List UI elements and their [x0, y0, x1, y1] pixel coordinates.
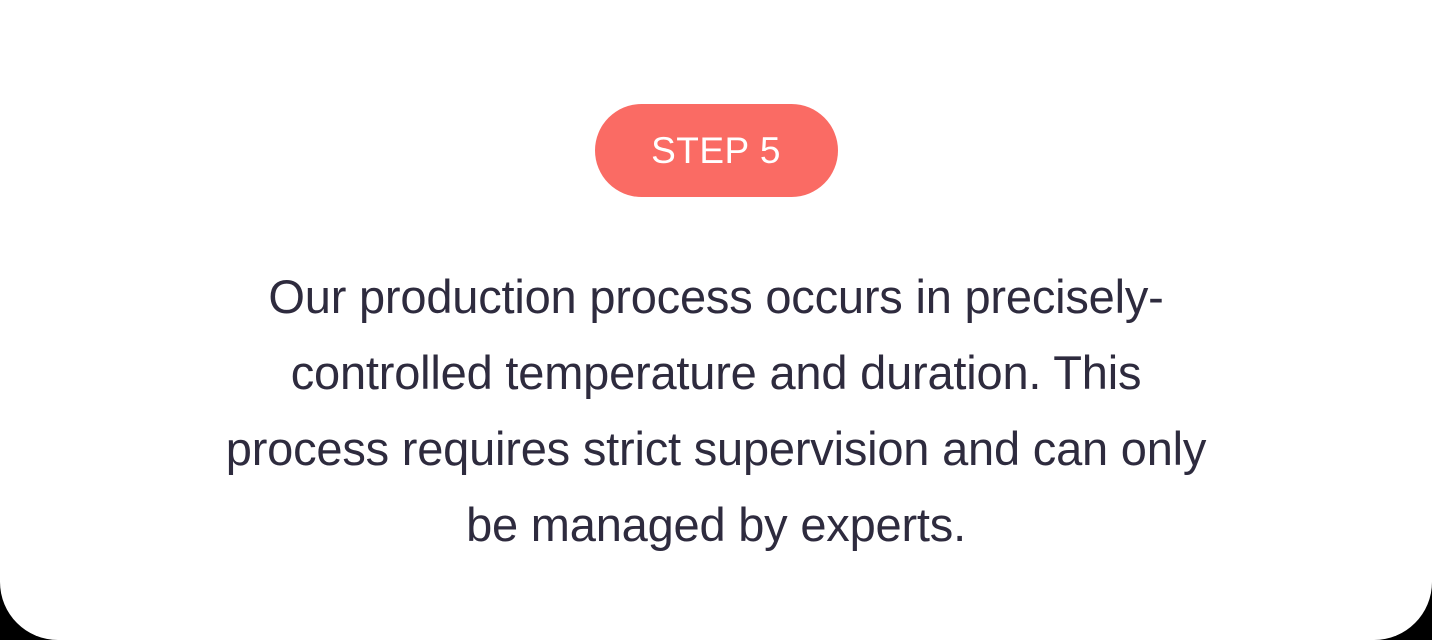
- step-description-line: controlled temperature and duration. Thi…: [71, 335, 1361, 411]
- step-card: STEP 5 Our production process occurs in …: [0, 0, 1432, 640]
- step-badge: STEP 5: [595, 104, 838, 197]
- screenshot-canvas: STEP 5 Our production process occurs in …: [0, 0, 1432, 640]
- step-description-line: process requires strict supervision and …: [71, 411, 1361, 487]
- step-badge-row: STEP 5: [0, 104, 1432, 197]
- step-description-line: Our production process occurs in precise…: [71, 259, 1361, 335]
- step-description: Our production process occurs in precise…: [71, 259, 1361, 563]
- step-description-line: be managed by experts.: [71, 487, 1361, 563]
